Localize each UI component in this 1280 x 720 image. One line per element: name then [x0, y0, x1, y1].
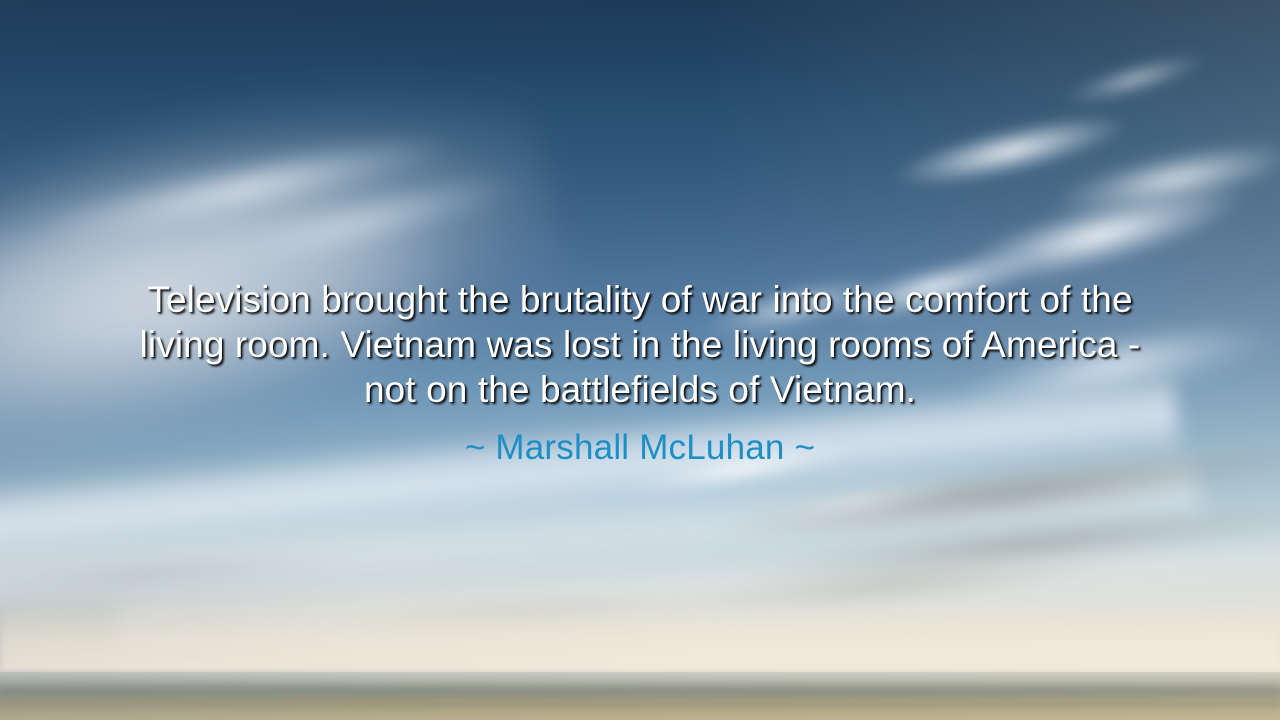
quote-author: ~ Marshall McLuhan ~ [60, 427, 1220, 469]
quote-block: Television brought the brutality of war … [0, 277, 1280, 469]
land-streak-lower [0, 700, 1280, 710]
quote-text: Television brought the brutality of war … [125, 277, 1155, 412]
quote-card: Television brought the brutality of war … [0, 0, 1280, 720]
land-streak-upper [0, 684, 1280, 698]
